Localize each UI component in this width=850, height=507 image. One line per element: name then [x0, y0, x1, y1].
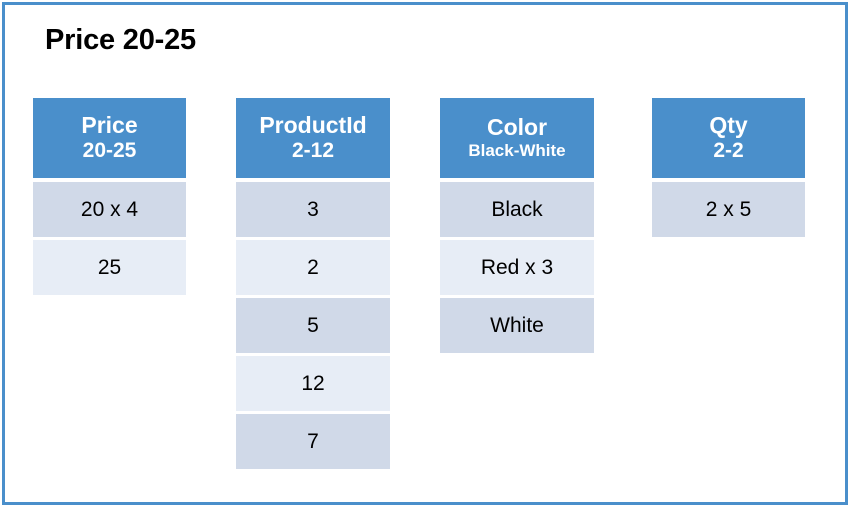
screenshot-root: Price 20-25 Price20-2520 x 425ProductId2…: [0, 0, 850, 507]
cell[interactable]: 12: [236, 356, 390, 411]
cell[interactable]: 20 x 4: [33, 182, 186, 237]
cell[interactable]: Black: [440, 182, 594, 237]
column-header-color[interactable]: ColorBlack-White: [440, 98, 594, 178]
column-header-title: Qty: [709, 113, 747, 138]
cell[interactable]: 3: [236, 182, 390, 237]
column-qty: Qty2-22 x 5: [652, 98, 805, 240]
column-header-subtitle: 2-12: [292, 140, 334, 163]
cell[interactable]: White: [440, 298, 594, 353]
column-header-productid[interactable]: ProductId2-12: [236, 98, 390, 178]
column-header-price[interactable]: Price20-25: [33, 98, 186, 178]
column-group: Price20-2520 x 425ProductId2-12325127Col…: [0, 0, 850, 507]
column-header-subtitle: 20-25: [83, 140, 137, 163]
column-cells-qty: 2 x 5: [652, 182, 805, 237]
column-header-subtitle: 2-2: [713, 140, 743, 163]
column-color: ColorBlack-WhiteBlackRed x 3White: [440, 98, 594, 356]
column-header-subtitle: Black-White: [468, 142, 565, 160]
column-header-qty[interactable]: Qty2-2: [652, 98, 805, 178]
column-cells-price: 20 x 425: [33, 182, 186, 295]
cell[interactable]: 2: [236, 240, 390, 295]
cell[interactable]: Red x 3: [440, 240, 594, 295]
cell[interactable]: 25: [33, 240, 186, 295]
column-header-title: ProductId: [259, 113, 366, 138]
column-cells-productid: 325127: [236, 182, 390, 469]
column-productid: ProductId2-12325127: [236, 98, 390, 472]
column-header-title: Price: [81, 113, 137, 138]
cell[interactable]: 7: [236, 414, 390, 469]
column-header-title: Color: [487, 115, 547, 140]
cell[interactable]: 5: [236, 298, 390, 353]
column-price: Price20-2520 x 425: [33, 98, 186, 298]
cell[interactable]: 2 x 5: [652, 182, 805, 237]
column-cells-color: BlackRed x 3White: [440, 182, 594, 353]
